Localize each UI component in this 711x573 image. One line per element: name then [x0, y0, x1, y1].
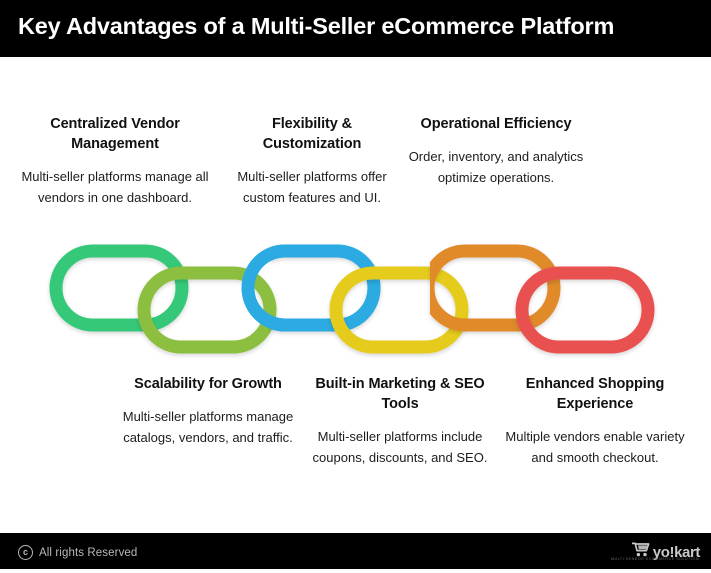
card-body: Multi-seller platforms offer custom feat… — [222, 167, 402, 208]
footer-bar: c All rights Reserved yo!kart MULTI VEND… — [0, 533, 711, 573]
card-body: Multiple vendors enable variety and smoo… — [500, 427, 690, 468]
chain-link-1-green — [56, 251, 182, 325]
infographic-page: Key Advantages of a Multi-Seller eCommer… — [0, 0, 711, 573]
card-title: Scalability for Growth — [118, 374, 298, 394]
card-body: Multi-seller platforms include coupons, … — [310, 427, 490, 468]
card-title: Built-in Marketing & SEO Tools — [310, 374, 490, 414]
card-body: Multi-seller platforms manage all vendor… — [20, 167, 210, 208]
card-title: Enhanced Shopping Experience — [500, 374, 690, 414]
card-body: Order, inventory, and analytics optimize… — [406, 147, 586, 188]
brand-tagline: MULTI VENDOR ECOMMERCE SOLUTION — [611, 557, 699, 561]
copyright-text: All rights Reserved — [39, 547, 137, 559]
card-title: Flexibility & Customization — [222, 114, 402, 154]
chain-svg — [0, 239, 711, 359]
card-body: Multi-seller platforms manage catalogs, … — [118, 407, 298, 448]
advantage-card-enhanced-shopping-experience: Enhanced Shopping Experience Multiple ve… — [500, 374, 690, 468]
copyright-icon: c — [18, 545, 33, 560]
content-stage: Centralized Vendor Management Multi-sell… — [0, 57, 711, 533]
copyright-notice: c All rights Reserved — [18, 545, 137, 560]
advantage-card-centralized-vendor-management: Centralized Vendor Management Multi-sell… — [20, 114, 210, 208]
advantage-card-flexibility-customization: Flexibility & Customization Multi-seller… — [222, 114, 402, 208]
advantage-card-operational-efficiency: Operational Efficiency Order, inventory,… — [406, 114, 586, 188]
header-bar: Key Advantages of a Multi-Seller eCommer… — [0, 0, 711, 57]
advantage-card-built-in-marketing-seo-tools: Built-in Marketing & SEO Tools Multi-sel… — [310, 374, 490, 468]
page-title: Key Advantages of a Multi-Seller eCommer… — [18, 13, 614, 40]
advantage-card-scalability-for-growth: Scalability for Growth Multi-seller plat… — [118, 374, 298, 448]
footer-bottom-rule — [0, 569, 711, 573]
interlocking-chain-links-icon — [0, 239, 711, 359]
card-title: Centralized Vendor Management — [20, 114, 210, 154]
card-title: Operational Efficiency — [406, 114, 586, 134]
brand-logo[interactable]: yo!kart MULTI VENDOR ECOMMERCE SOLUTION — [631, 541, 700, 563]
